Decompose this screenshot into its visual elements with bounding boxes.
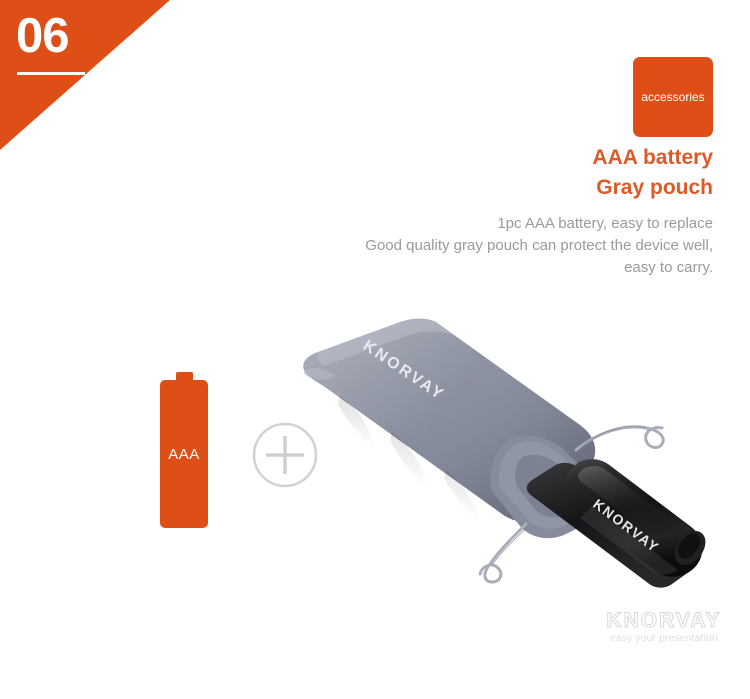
slide-canvas: 06 accessories AAA battery Gray pouch 1p…	[0, 0, 750, 699]
product-photo: KNORVAY	[280, 280, 710, 590]
battery-body: AAA	[160, 380, 208, 528]
accessories-badge-label: accessories	[641, 91, 704, 103]
description: 1pc AAA battery, easy to replace Good qu…	[365, 213, 713, 279]
description-line-2: Good quality gray pouch can protect the …	[365, 235, 713, 257]
footer-wordmark: KNORVAY	[590, 610, 738, 631]
footer-tagline: easy your presentation	[590, 634, 738, 644]
accessories-badge: accessories	[633, 57, 713, 137]
description-line-3: easy to carry.	[365, 257, 713, 279]
slide-number-underline	[17, 72, 85, 75]
slide-number: 06	[16, 12, 69, 61]
headline: AAA battery Gray pouch	[592, 143, 713, 203]
footer-logo: KNORVAY easy your presentation	[590, 610, 738, 644]
battery-illustration: AAA	[160, 372, 208, 528]
description-line-1: 1pc AAA battery, easy to replace	[365, 213, 713, 235]
headline-line-2: Gray pouch	[592, 173, 713, 203]
headline-line-1: AAA battery	[592, 143, 713, 173]
battery-label: AAA	[168, 446, 200, 463]
